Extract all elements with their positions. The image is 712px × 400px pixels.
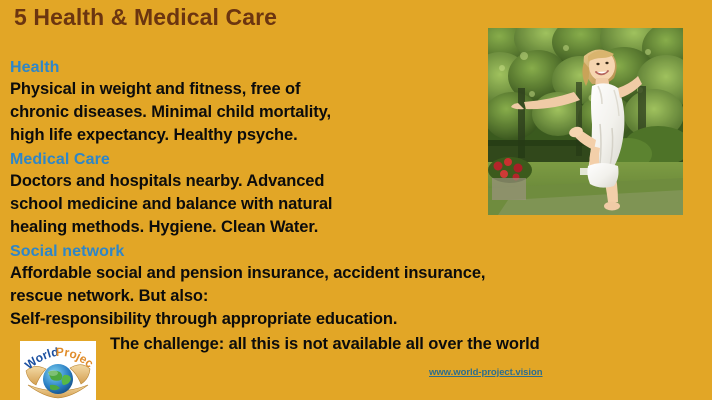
slide-canvas: 5 Health & Medical Care Health Physical … [0,0,712,400]
section-health-line-1: Physical in weight and fitness, free of [10,78,331,101]
challenge-statement: The challenge: all this is not available… [110,335,540,354]
section-social-network: Social network Affordable social and pen… [10,241,485,331]
section-health-heading: Health [10,57,331,78]
photo-jumping-woman [488,28,683,215]
page-title: 5 Health & Medical Care [14,4,277,31]
section-health-line-2: chronic diseases. Minimal child mortalit… [10,101,331,124]
section-health: Health Physical in weight and fitness, f… [10,57,331,147]
section-health-line-3: high life expectancy. Healthy psyche. [10,124,331,147]
section-medical-care: Medical Care Doctors and hospitals nearb… [10,149,332,239]
section-medical-care-line-3: healing methods. Hygiene. Clean Water. [10,216,332,239]
world-project-logo[interactable]: World Project [20,341,96,400]
section-medical-care-line-2: school medicine and balance with natural [10,193,332,216]
section-social-network-line-3: Self-responsibility through appropriate … [10,308,485,331]
section-medical-care-heading: Medical Care [10,149,332,170]
section-social-network-line-1: Affordable social and pension insurance,… [10,262,485,285]
section-social-network-heading: Social network [10,241,485,262]
section-medical-care-line-1: Doctors and hospitals nearby. Advanced [10,170,332,193]
section-social-network-line-2: rescue network. But also: [10,285,485,308]
website-url-link[interactable]: www.world-project.vision [429,367,543,378]
